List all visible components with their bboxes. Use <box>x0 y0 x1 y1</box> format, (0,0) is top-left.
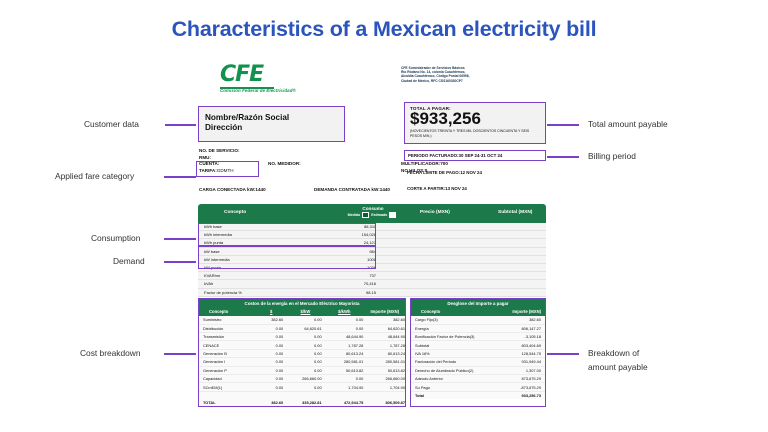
rmu-label: RMU: <box>199 155 211 160</box>
market-cost-title: Costos de la energía en el Mercado Eléct… <box>199 299 405 309</box>
cfe-logo: CFE Comisión Federal de Electricidad® <box>220 64 296 93</box>
table-row: kW base984 <box>198 248 546 256</box>
total-payable-words: (NOVECIENTOS TREINTA Y TRES MIL DOSCIENT… <box>410 129 540 138</box>
cell-importe: 382.60 <box>363 317 405 322</box>
annotation-applied-fare-category: Applied fare category <box>55 171 134 181</box>
annotation-total-amount-payable: Total amount payable <box>588 119 668 129</box>
cell-per-kw: 266,660.00 <box>283 376 321 381</box>
cell-importe: 933,256.73 <box>497 393 545 398</box>
table-row: kWh base86,311 <box>198 223 546 231</box>
cell-concepto: Bonificación Factor de Potencia(3) <box>411 334 497 339</box>
cell-per-kw: 335,282.81 <box>283 400 321 405</box>
leader-line-demand <box>164 261 197 263</box>
bill-sheet: CFE Comisión Federal de Electricidad® CF… <box>196 62 546 407</box>
table-row: Facturación del Periodo931,949.44 <box>411 358 545 366</box>
consumption-table: Concepto Consumo MedidoEstimado Precio (… <box>198 204 546 297</box>
table-row: Suministro382.600.000.00382.60 <box>199 316 405 324</box>
cell-importe: -3,105.18 <box>497 334 545 339</box>
cutoff-row: CORTE A PARTIR:13 NOV 24 <box>404 184 546 193</box>
col-precio: Precio (MXN) <box>420 210 450 215</box>
annotation-breakdown-amount-1: Breakdown of <box>588 348 639 358</box>
cell-importe: 48,644.90 <box>363 334 405 339</box>
market-cost-table: Costos de la energía en el Mercado Eléct… <box>198 298 406 407</box>
cell-importe: 80,613.24 <box>363 351 405 356</box>
cell-consumo: 70,416 <box>292 281 376 286</box>
cell-importe: 1,307.00 <box>497 368 545 373</box>
table-row: Cargo Fijo(3)382.60 <box>411 316 545 324</box>
cell-per-kwh: 1,704.90 <box>322 385 364 390</box>
cell-importe: 873,675.29 <box>497 376 545 381</box>
cell-per-kwh: 48,644.90 <box>322 334 364 339</box>
cell-importe: 931,949.44 <box>497 359 545 364</box>
cell-concepto: Cargo Fijo(3) <box>411 317 497 322</box>
annotation-customer-data: Customer data <box>84 119 139 129</box>
page-title: Characteristics of a Mexican electricity… <box>0 17 768 42</box>
annotation-demand: Demand <box>113 256 145 266</box>
payment-deadline-label: FECHA LÍMITE DE PAGO: <box>407 170 460 175</box>
table-row: kWh intermedia154,028 <box>198 231 546 239</box>
market-col-concepto: Concepto <box>199 309 256 314</box>
table-row: Generación B0.000.0080,613.2480,613.24 <box>199 350 405 358</box>
cell-concepto: Capacidad <box>199 376 251 381</box>
cell-concepto: KVARhm <box>198 273 292 278</box>
cell-importe: 266,660.00 <box>363 376 405 381</box>
cell-concepto: kWh punta <box>198 240 292 245</box>
checkbox-medido-icon[interactable] <box>362 212 369 218</box>
service-number-row: NO. DE SERVICIO: <box>199 148 399 155</box>
col-consumo-subtitle: MedidoEstimado <box>338 212 408 218</box>
table-row: Factor de potencia %98.15 <box>198 289 546 297</box>
applied-fare-highlight-box <box>196 161 259 177</box>
cell-pesos: 0.00 <box>251 334 283 339</box>
slide-root: Characteristics of a Mexican electricity… <box>0 0 768 432</box>
table-row: SCmEM(1)0.000.001,704.901,704.90 <box>199 383 405 391</box>
cell-per-kw: 0.00 <box>283 359 321 364</box>
bottom-tables: Costos de la energía en el Mercado Eléct… <box>198 298 546 407</box>
table-row: kW intermedia1008 <box>198 256 546 264</box>
cell-pesos: 0.00 <box>251 343 283 348</box>
cell-concepto: SCmEM(1) <box>199 385 251 390</box>
cell-per-kwh: 0.00 <box>322 376 364 381</box>
cell-pesos: 382.60 <box>251 400 283 405</box>
cell-pesos: 0.00 <box>251 326 283 331</box>
cfe-logo-subtitle: Comisión Federal de Electricidad® <box>220 88 296 93</box>
cell-concepto: Transmisión <box>199 334 251 339</box>
cell-per-kwh: 80,613.24 <box>322 351 364 356</box>
cell-pesos: 0.00 <box>251 376 283 381</box>
table-row: kVAh70,416 <box>198 280 546 288</box>
cell-consumo: 98.15 <box>292 290 376 295</box>
customer-data-box: Nombre/Razón Social Dirección <box>198 106 345 142</box>
table-row: Derecho de Alumbrado Público(2)1,307.00 <box>411 367 545 375</box>
consumption-table-header: Concepto Consumo MedidoEstimado Precio (… <box>198 204 546 223</box>
cell-pesos: 0.00 <box>251 359 283 364</box>
market-col-importe: Importe (MXN) <box>365 309 405 314</box>
cell-concepto: Suministro <box>199 317 251 322</box>
col-precio-label: Precio <box>420 210 435 215</box>
cell-concepto: Su Pago <box>411 385 497 390</box>
table-row: IVA 16%128,544.75 <box>411 350 545 358</box>
cell-per-kw: 0.00 <box>283 385 321 390</box>
cell-concepto: Factor de potencia % <box>198 290 292 295</box>
cell-pesos: 382.60 <box>251 317 283 322</box>
col-consumo: Consumo MedidoEstimado <box>338 206 408 218</box>
cell-importe: 806,147.27 <box>497 326 545 331</box>
table-row: KVARhm737 <box>198 272 546 280</box>
payable-breakdown-body: Cargo Fijo(3)382.60Energía806,147.27Boni… <box>411 316 545 399</box>
market-col-per-kw: $/kW <box>287 309 324 314</box>
market-col-per-kwh: $/kWh <box>324 309 364 314</box>
leader-line-applied-fare <box>164 176 197 178</box>
cell-importe: 806,509.87 <box>363 400 405 405</box>
col-subtotal: Subtotal (MXN) <box>498 210 532 215</box>
cell-consumo: 154,028 <box>292 232 376 237</box>
cell-importe: 1,704.90 <box>363 385 405 390</box>
cell-importe: 128,544.75 <box>497 351 545 356</box>
connected-load-value: 1440 <box>255 187 265 192</box>
cell-per-kw: 0.00 <box>283 351 321 356</box>
cell-consumo: 86,311 <box>292 224 376 229</box>
cell-per-kw: 0.00 <box>283 317 321 322</box>
leader-line-customer-data <box>165 124 197 126</box>
table-row: Distribución0.0064,620.610.0064,620.61 <box>199 325 405 333</box>
annotation-cost-breakdown: Cost breakdown <box>80 348 141 358</box>
payment-deadline-row: FECHA LÍMITE DE PAGO:12 NOV 24 <box>404 168 546 177</box>
total-payable-amount: $933,256 <box>410 110 540 128</box>
table-row: Su Pago-873,675.29 <box>411 383 545 391</box>
connected-load-label: CARGA CONECTADA kW: <box>199 187 255 192</box>
cell-concepto: kVAh <box>198 281 292 286</box>
cell-consumo: 737 <box>292 273 376 278</box>
leader-line-total-amount <box>547 124 579 126</box>
cell-per-kwh: 1,787.28 <box>322 343 364 348</box>
cell-pesos: 0.00 <box>251 368 283 373</box>
connected-load-row: CARGA CONECTADA kW:1440 <box>199 187 266 192</box>
company-line-4: Ciudad de México, RFC CSS160330CP7 <box>401 79 546 83</box>
total-payable-box: TOTAL A PAGAR: $933,256 (NOVECIENTOS TRE… <box>404 102 546 144</box>
col-concepto: Concepto <box>224 210 246 215</box>
cell-concepto: kWh base <box>198 224 292 229</box>
table-row: Bonificación Factor de Potencia(3)-3,105… <box>411 333 545 341</box>
cell-per-kwh: 0.00 <box>322 317 364 322</box>
contracted-demand-row: DEMANDA CONTRATADA kW:1440 <box>314 187 390 192</box>
customer-address: Dirección <box>205 123 338 133</box>
meter-number-row: NO. MEDIDOR: <box>268 161 301 168</box>
customer-name: Nombre/Razón Social <box>205 113 338 123</box>
leader-line-billing-period <box>547 156 579 158</box>
cell-per-kw: 0.00 <box>283 368 321 373</box>
cell-concepto: TOTAL <box>199 400 251 405</box>
cell-concepto: kW intermedia <box>198 257 292 262</box>
col-consumo-label: Consumo <box>362 206 383 211</box>
table-row: Generación I0.000.00280,581.01280,581.01 <box>199 358 405 366</box>
table-row: Energía806,147.27 <box>411 325 545 333</box>
payable-columns: Concepto Importe (MXN) <box>411 309 545 317</box>
consumo-medido-label: Medido <box>348 213 361 217</box>
cell-importe: 382.60 <box>497 317 545 322</box>
billing-period-value: 30 SEP 24-31 OCT 24 <box>459 153 503 158</box>
table-row: Capacidad0.00266,660.000.00266,660.00 <box>199 375 405 383</box>
table-row: Subtotal803,404.69 <box>411 341 545 349</box>
cell-per-kw: 0.00 <box>283 334 321 339</box>
cell-importe: 64,620.61 <box>363 326 405 331</box>
cell-per-kwh: 472,944.75 <box>322 400 364 405</box>
checkbox-estimado-icon[interactable] <box>389 212 396 218</box>
cell-consumo: 1008 <box>292 257 376 262</box>
table-row: kW punta1036 <box>198 264 546 272</box>
cell-per-kw: 0.00 <box>283 343 321 348</box>
cell-concepto: kWh intermedia <box>198 232 292 237</box>
cell-concepto: IVA 16% <box>411 351 497 356</box>
payable-col-concepto: Concepto <box>411 309 499 314</box>
cell-concepto: Distribución <box>199 326 251 331</box>
table-row: Transmisión0.000.0048,644.9048,644.90 <box>199 333 405 341</box>
col-subtotal-unit: (MXN) <box>519 210 533 215</box>
cell-per-kwh: 0.00 <box>322 326 364 331</box>
table-row: CENACE0.000.001,787.281,787.28 <box>199 341 405 349</box>
cell-per-kwh: 280,581.01 <box>322 359 364 364</box>
cell-per-kwh: 50,613.82 <box>322 368 364 373</box>
table-row: Adeudo Anterior873,675.29 <box>411 375 545 383</box>
leader-line-cost-breakdown <box>164 353 197 355</box>
billing-period-box: PERIODO FACTURADO:30 SEP 24-31 OCT 24 <box>404 150 546 161</box>
market-cost-body: Suministro382.600.000.00382.60Distribuci… <box>199 316 405 406</box>
cell-concepto: Facturación del Periodo <box>411 359 497 364</box>
payable-breakdown-table: Desglose del Importe a pagar Concepto Im… <box>410 298 546 407</box>
company-address: CFE Suministrador de Servicios Básicos R… <box>401 66 546 83</box>
annotation-consumption: Consumption <box>91 233 140 243</box>
annotation-breakdown-amount-2: amount payable <box>588 362 648 372</box>
cell-consumo: 1036 <box>292 265 376 270</box>
payable-col-importe: Importe (MXN) <box>499 309 545 314</box>
cell-concepto: kW punta <box>198 265 292 270</box>
cell-importe: 50,613.82 <box>363 368 405 373</box>
cell-concepto: kW base <box>198 249 292 254</box>
cfe-logo-acronym: CFE <box>220 64 296 86</box>
contracted-demand-label: DEMANDA CONTRATADA kW: <box>314 187 380 192</box>
cell-importe: 803,404.69 <box>497 343 545 348</box>
table-spacer <box>199 392 405 399</box>
col-precio-unit: (MXN) <box>436 210 450 215</box>
leader-line-breakdown-payable <box>547 353 579 355</box>
cell-concepto: Generación P <box>199 368 251 373</box>
table-row: Generación P0.000.0050,613.8250,613.82 <box>199 367 405 375</box>
cutoff-label: CORTE A PARTIR: <box>407 186 445 191</box>
cell-concepto: Derecho de Alumbrado Público(2) <box>411 368 497 373</box>
cell-concepto: Subtotal <box>411 343 497 348</box>
cutoff-value: 13 NOV 24 <box>445 186 467 191</box>
cell-per-kw: 64,620.61 <box>283 326 321 331</box>
cell-consumo: 24,127 <box>292 240 376 245</box>
payable-breakdown-title: Desglose del Importe a pagar <box>411 299 545 309</box>
cell-concepto: Generación I <box>199 359 251 364</box>
col-subtotal-label: Subtotal <box>498 210 517 215</box>
cell-concepto: Energía <box>411 326 497 331</box>
table-row: kWh punta24,127 <box>198 239 546 247</box>
cell-pesos: 0.00 <box>251 351 283 356</box>
payment-deadline-value: 12 NOV 24 <box>460 170 482 175</box>
market-cost-columns: Concepto $ $/kW $/kWh Importe (MXN) <box>199 309 405 317</box>
cell-importe: 280,581.01 <box>363 359 405 364</box>
cell-pesos: 0.00 <box>251 385 283 390</box>
table-total-row: TOTAL382.60335,282.81472,944.75806,509.8… <box>199 399 405 406</box>
cell-importe: 1,787.28 <box>363 343 405 348</box>
period-block: PERIODO FACTURADO:30 SEP 24-31 OCT 24 FE… <box>404 150 546 193</box>
leader-line-consumption <box>164 238 197 240</box>
meter-number-label: NO. MEDIDOR: <box>268 161 301 166</box>
service-number-label: NO. DE SERVICIO: <box>199 148 240 153</box>
annotation-billing-period: Billing period <box>588 151 636 161</box>
cell-concepto: CENACE <box>199 343 251 348</box>
cell-importe: -873,675.29 <box>497 385 545 390</box>
contracted-demand-value: 1440 <box>380 187 390 192</box>
billing-period-label: PERIODO FACTURADO: <box>408 153 459 158</box>
cell-concepto: Total <box>411 393 497 398</box>
cell-consumo: 984 <box>292 249 376 254</box>
cell-concepto: Adeudo Anterior <box>411 376 497 381</box>
market-col-pesos: $ <box>256 309 287 314</box>
table-total-row: Total933,256.73 <box>411 392 545 399</box>
cell-concepto: Generación B <box>199 351 251 356</box>
consumo-estimado-label: Estimado <box>371 213 387 217</box>
consumption-table-body: kWh base86,311kWh intermedia154,028kWh p… <box>198 223 546 297</box>
